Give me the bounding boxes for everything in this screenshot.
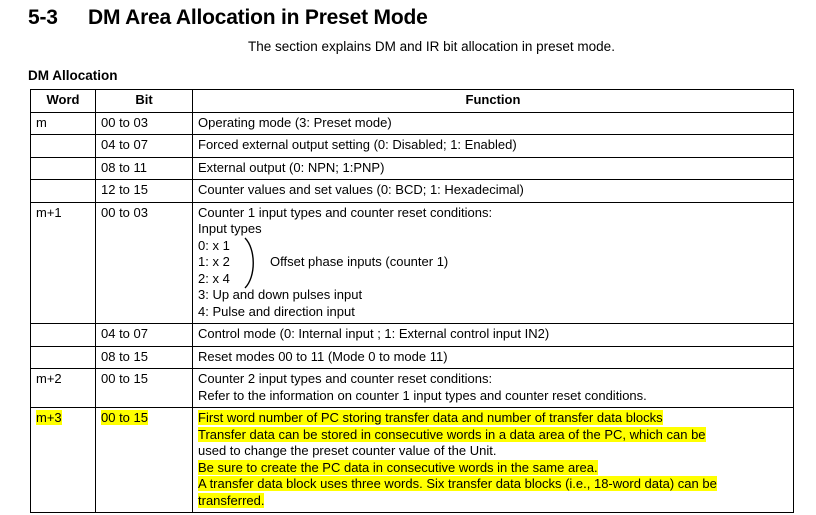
function-text-line: transferred. bbox=[198, 493, 788, 510]
cell-word bbox=[31, 135, 96, 158]
cell-bit: 04 to 07 bbox=[96, 135, 193, 158]
function-text-line: Refer to the information on counter 1 in… bbox=[198, 388, 788, 405]
function-text-line: Counter 2 input types and counter reset … bbox=[198, 371, 788, 388]
function-text: Be sure to create the PC data in consecu… bbox=[198, 460, 598, 475]
section-number: 5-3 bbox=[28, 6, 88, 30]
input-type-option: 1: x 2 bbox=[198, 254, 230, 271]
table-row: m+300 to 15First word number of PC stori… bbox=[31, 408, 794, 513]
table-row: m+100 to 03Counter 1 input types and cou… bbox=[31, 202, 794, 324]
cell-function: Operating mode (3: Preset mode) bbox=[193, 112, 794, 135]
bit-value: 04 to 07 bbox=[101, 137, 148, 152]
page-header: 5-3 DM Area Allocation in Preset Mode bbox=[28, 6, 788, 30]
table-header-row: Word Bit Function bbox=[31, 90, 794, 113]
function-text: used to change the preset counter value … bbox=[198, 443, 496, 458]
function-text-line: 4: Pulse and direction input bbox=[198, 304, 788, 321]
cell-bit: 00 to 15 bbox=[96, 369, 193, 408]
function-text: Counter values and set values (0: BCD; 1… bbox=[198, 182, 524, 197]
cell-word bbox=[31, 324, 96, 347]
cell-word: m bbox=[31, 112, 96, 135]
bit-value: 12 to 15 bbox=[101, 182, 148, 197]
cell-bit: 04 to 07 bbox=[96, 324, 193, 347]
function-text-line: Transfer data can be stored in consecuti… bbox=[198, 427, 788, 444]
section-subtitle: The section explains DM and IR bit alloc… bbox=[248, 39, 615, 54]
table-row: m00 to 03Operating mode (3: Preset mode) bbox=[31, 112, 794, 135]
cell-bit: 08 to 11 bbox=[96, 157, 193, 180]
bit-value: 08 to 15 bbox=[101, 349, 148, 364]
offset-phase-inputs-label: Offset phase inputs (counter 1) bbox=[270, 254, 448, 271]
cell-bit: 00 to 03 bbox=[96, 202, 193, 324]
word-value: m bbox=[36, 115, 47, 130]
offset-phase-brace-group: 0: x 11: x 22: x 4Offset phase inputs (c… bbox=[198, 238, 788, 288]
right-brace-icon bbox=[242, 236, 262, 290]
cell-word: m+2 bbox=[31, 369, 96, 408]
cell-function: Counter values and set values (0: BCD; 1… bbox=[193, 180, 794, 203]
function-text: External output (0: NPN; 1:PNP) bbox=[198, 160, 384, 175]
function-text-line: Input types bbox=[198, 221, 788, 238]
bit-value: 04 to 07 bbox=[101, 326, 148, 341]
table-row: m+200 to 15Counter 2 input types and cou… bbox=[31, 369, 794, 408]
input-type-options: 0: x 11: x 22: x 4 bbox=[198, 238, 230, 288]
table-header: Word Bit Function bbox=[31, 90, 794, 113]
cell-word: m+1 bbox=[31, 202, 96, 324]
table-row: 08 to 15Reset modes 00 to 11 (Mode 0 to … bbox=[31, 346, 794, 369]
function-text-line: used to change the preset counter value … bbox=[198, 443, 788, 460]
column-header-bit: Bit bbox=[96, 90, 193, 113]
cell-function: External output (0: NPN; 1:PNP) bbox=[193, 157, 794, 180]
function-text-line: 3: Up and down pulses input bbox=[198, 287, 788, 304]
cell-bit: 00 to 03 bbox=[96, 112, 193, 135]
cell-function: Counter 2 input types and counter reset … bbox=[193, 369, 794, 408]
cell-word bbox=[31, 180, 96, 203]
bit-value: 00 to 03 bbox=[101, 205, 148, 220]
function-text-line: Be sure to create the PC data in consecu… bbox=[198, 460, 788, 477]
function-text-line: Counter 1 input types and counter reset … bbox=[198, 205, 788, 222]
word-value: m+2 bbox=[36, 371, 62, 386]
cell-function: Forced external output setting (0: Disab… bbox=[193, 135, 794, 158]
table-row: 08 to 11External output (0: NPN; 1:PNP) bbox=[31, 157, 794, 180]
cell-function: Control mode (0: Internal input ; 1: Ext… bbox=[193, 324, 794, 347]
cell-function: Reset modes 00 to 11 (Mode 0 to mode 11) bbox=[193, 346, 794, 369]
cell-word bbox=[31, 346, 96, 369]
function-text-line: A transfer data block uses three words. … bbox=[198, 476, 788, 493]
column-header-function: Function bbox=[193, 90, 794, 113]
input-type-option: 2: x 4 bbox=[198, 271, 230, 288]
function-text: Forced external output setting (0: Disab… bbox=[198, 137, 517, 152]
function-text: First word number of PC storing transfer… bbox=[198, 410, 663, 425]
cell-bit: 00 to 15 bbox=[96, 408, 193, 513]
word-value: m+3 bbox=[36, 410, 62, 425]
dm-allocation-table: Word Bit Function m00 to 03Operating mod… bbox=[30, 89, 794, 513]
table-body: m00 to 03Operating mode (3: Preset mode)… bbox=[31, 112, 794, 513]
function-text: transferred. bbox=[198, 493, 264, 508]
bit-value: 00 to 15 bbox=[101, 410, 148, 425]
table-row: 12 to 15Counter values and set values (0… bbox=[31, 180, 794, 203]
function-text: Operating mode (3: Preset mode) bbox=[198, 115, 392, 130]
table-caption: DM Allocation bbox=[28, 68, 118, 83]
cell-bit: 12 to 15 bbox=[96, 180, 193, 203]
cell-function: Counter 1 input types and counter reset … bbox=[193, 202, 794, 324]
section-title: DM Area Allocation in Preset Mode bbox=[88, 6, 788, 30]
page-title: 5-3 DM Area Allocation in Preset Mode bbox=[28, 6, 788, 30]
function-text: A transfer data block uses three words. … bbox=[198, 476, 717, 491]
cell-word bbox=[31, 157, 96, 180]
bit-value: 00 to 03 bbox=[101, 115, 148, 130]
function-text-line: First word number of PC storing transfer… bbox=[198, 410, 788, 427]
column-header-word: Word bbox=[31, 90, 96, 113]
function-text: Reset modes 00 to 11 (Mode 0 to mode 11) bbox=[198, 349, 448, 364]
bit-value: 00 to 15 bbox=[101, 371, 148, 386]
cell-function: First word number of PC storing transfer… bbox=[193, 408, 794, 513]
word-value: m+1 bbox=[36, 205, 62, 220]
input-type-option: 0: x 1 bbox=[198, 238, 230, 255]
cell-bit: 08 to 15 bbox=[96, 346, 193, 369]
cell-word: m+3 bbox=[31, 408, 96, 513]
function-text: Transfer data can be stored in consecuti… bbox=[198, 427, 706, 442]
bit-value: 08 to 11 bbox=[101, 160, 147, 175]
table-row: 04 to 07Control mode (0: Internal input … bbox=[31, 324, 794, 347]
table-row: 04 to 07Forced external output setting (… bbox=[31, 135, 794, 158]
function-text: Control mode (0: Internal input ; 1: Ext… bbox=[198, 326, 549, 341]
